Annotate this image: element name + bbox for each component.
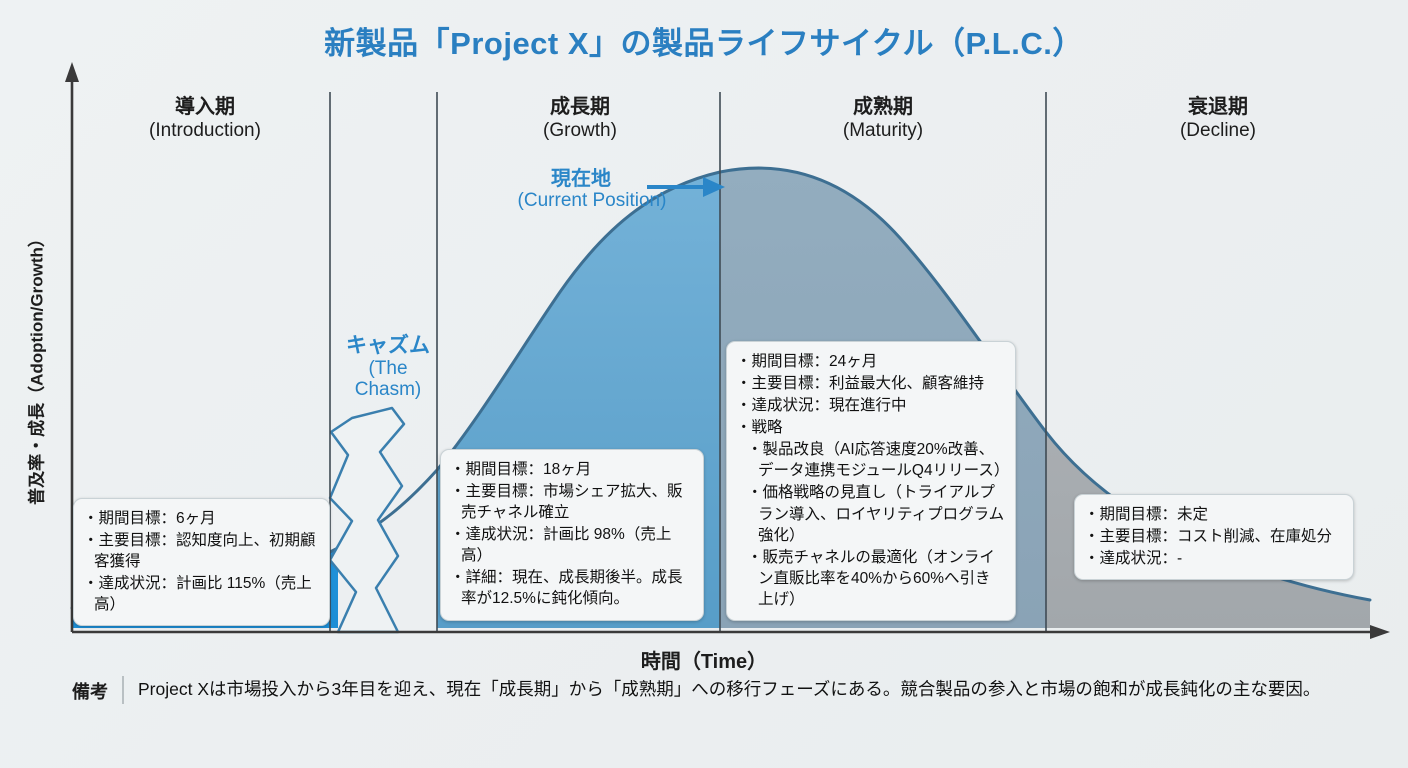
info-line: ・達成状況：計画比 115%（売上高） bbox=[83, 573, 319, 615]
chasm-annotation: キャズム (The Chasm) bbox=[330, 334, 446, 400]
info-box-decline: ・期間目標：未定 ・主要目標：コスト削減、在庫処分 ・達成状況：- bbox=[1074, 494, 1354, 580]
footer-divider bbox=[122, 676, 124, 704]
info-line-strategy: ・販売チャネルの最適化（オンライン直販比率を40%から60%へ引き上げ） bbox=[736, 547, 1005, 610]
info-box-growth: ・期間目標：18ヶ月 ・主要目標：市場シェア拡大、販売チャネル確立 ・達成状況：… bbox=[440, 449, 704, 621]
phase-label-maturity-en: (Maturity) bbox=[758, 120, 1008, 142]
info-line: ・主要目標：コスト削減、在庫処分 bbox=[1084, 526, 1343, 547]
info-line: ・詳細：現在、成長期後半。成長率が12.5%に鈍化傾向。 bbox=[450, 567, 693, 609]
chasm-annotation-en-2: Chasm) bbox=[330, 379, 446, 400]
phase-label-introduction-en: (Introduction) bbox=[80, 120, 330, 142]
info-line: ・主要目標：市場シェア拡大、販売チャネル確立 bbox=[450, 481, 693, 523]
phase-label-decline-jp: 衰退期 bbox=[1093, 96, 1343, 120]
chasm-crack bbox=[330, 408, 404, 632]
phase-label-introduction-jp: 導入期 bbox=[80, 96, 330, 120]
info-box-introduction: ・期間目標：6ヶ月 ・主要目標：認知度向上、初期顧客獲得 ・達成状況：計画比 1… bbox=[73, 498, 330, 626]
phase-label-introduction: 導入期 (Introduction) bbox=[80, 96, 330, 142]
info-line: ・期間目標：未定 bbox=[1084, 504, 1343, 525]
chasm-annotation-jp: キャズム bbox=[330, 334, 446, 358]
info-line: ・主要目標：利益最大化、顧客維持 bbox=[736, 373, 1005, 394]
chasm-annotation-en-1: (The bbox=[330, 358, 446, 379]
x-axis-title: 時間（Time） bbox=[0, 645, 1408, 674]
plc-diagram: 新製品「Project X」の製品ライフサイクル（P.L.C.） bbox=[0, 0, 1408, 768]
info-line: ・期間目標：18ヶ月 bbox=[450, 459, 693, 480]
info-line: ・達成状況：- bbox=[1084, 548, 1343, 569]
phase-label-decline-en: (Decline) bbox=[1093, 120, 1343, 142]
phase-label-maturity-jp: 成熟期 bbox=[758, 96, 1008, 120]
footer-note-text: Project Xは市場投入から3年目を迎え、現在「成長期」から「成熟期」への移… bbox=[138, 676, 1372, 702]
phase-label-decline: 衰退期 (Decline) bbox=[1093, 96, 1343, 142]
footer-note-label: 備考 bbox=[72, 676, 122, 704]
info-line-strategy: ・製品改良（AI応答速度20%改善、データ連携モジュールQ4リリース） bbox=[736, 439, 1005, 481]
phase-label-growth: 成長期 (Growth) bbox=[455, 96, 705, 142]
phase-label-growth-en: (Growth) bbox=[455, 120, 705, 142]
info-line-strategy: ・価格戦略の見直し（トライアルプラン導入、ロイヤリティプログラム強化） bbox=[736, 482, 1005, 545]
y-axis-title: 普及率・成長（Adoption/Growth） bbox=[23, 168, 48, 568]
info-box-maturity: ・期間目標：24ヶ月 ・主要目標：利益最大化、顧客維持 ・達成状況：現在進行中 … bbox=[726, 341, 1016, 621]
footer-note: 備考 Project Xは市場投入から3年目を迎え、現在「成長期」から「成熟期」… bbox=[72, 676, 1372, 704]
info-line: ・期間目標：24ヶ月 bbox=[736, 351, 1005, 372]
phase-label-growth-jp: 成長期 bbox=[455, 96, 705, 120]
info-line: ・戦略 bbox=[736, 417, 1005, 438]
right-arrow-icon bbox=[645, 176, 731, 198]
info-line: ・達成状況：現在進行中 bbox=[736, 395, 1005, 416]
phase-label-maturity: 成熟期 (Maturity) bbox=[758, 96, 1008, 142]
info-line: ・達成状況：計画比 98%（売上高） bbox=[450, 524, 693, 566]
info-line: ・期間目標：6ヶ月 bbox=[83, 508, 319, 529]
info-line: ・主要目標：認知度向上、初期顧客獲得 bbox=[83, 530, 319, 572]
